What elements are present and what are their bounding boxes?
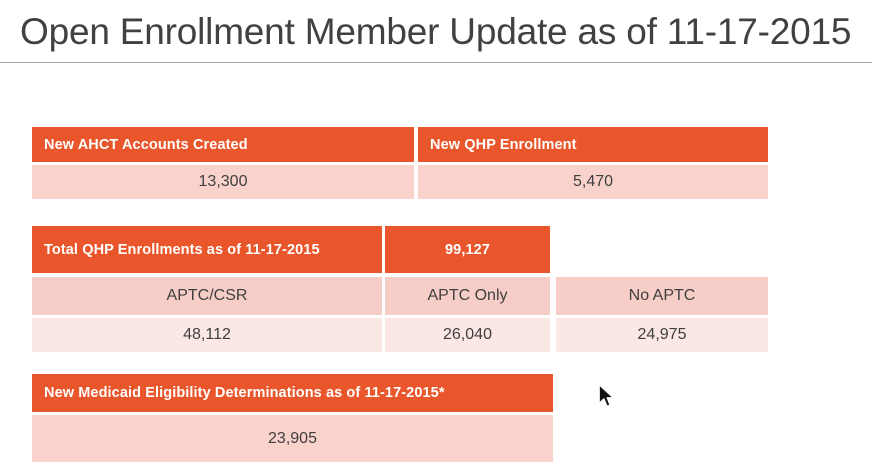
aptc-csr-column-label: APTC/CSR <box>32 277 382 315</box>
total-qhp-header-label-cell: Total QHP Enrollments as of 11-17-2015 <box>32 226 382 273</box>
medicaid-header-cell: New Medicaid Eligibility Determinations … <box>32 374 553 412</box>
no-aptc-column-label: No APTC <box>556 277 768 315</box>
new-qhp-header-cell: New QHP Enrollment <box>418 127 768 162</box>
total-qhp-header-value-cell: 99,127 <box>385 226 550 273</box>
new-qhp-value-cell: 5,470 <box>418 165 768 199</box>
title-bar: Open Enrollment Member Update as of 11-1… <box>0 0 872 63</box>
aptc-csr-value-cell: 48,112 <box>32 318 382 352</box>
new-accounts-header-cell: New AHCT Accounts Created <box>32 127 414 162</box>
page-title: Open Enrollment Member Update as of 11-1… <box>20 8 851 56</box>
title-divider <box>0 62 872 63</box>
no-aptc-value-cell: 24,975 <box>556 318 768 352</box>
aptc-only-column-label: APTC Only <box>385 277 550 315</box>
medicaid-value-cell: 23,905 <box>32 415 553 462</box>
new-accounts-value-cell: 13,300 <box>32 165 414 199</box>
arrow-pointer-icon <box>598 384 616 410</box>
aptc-only-value-cell: 26,040 <box>385 318 550 352</box>
